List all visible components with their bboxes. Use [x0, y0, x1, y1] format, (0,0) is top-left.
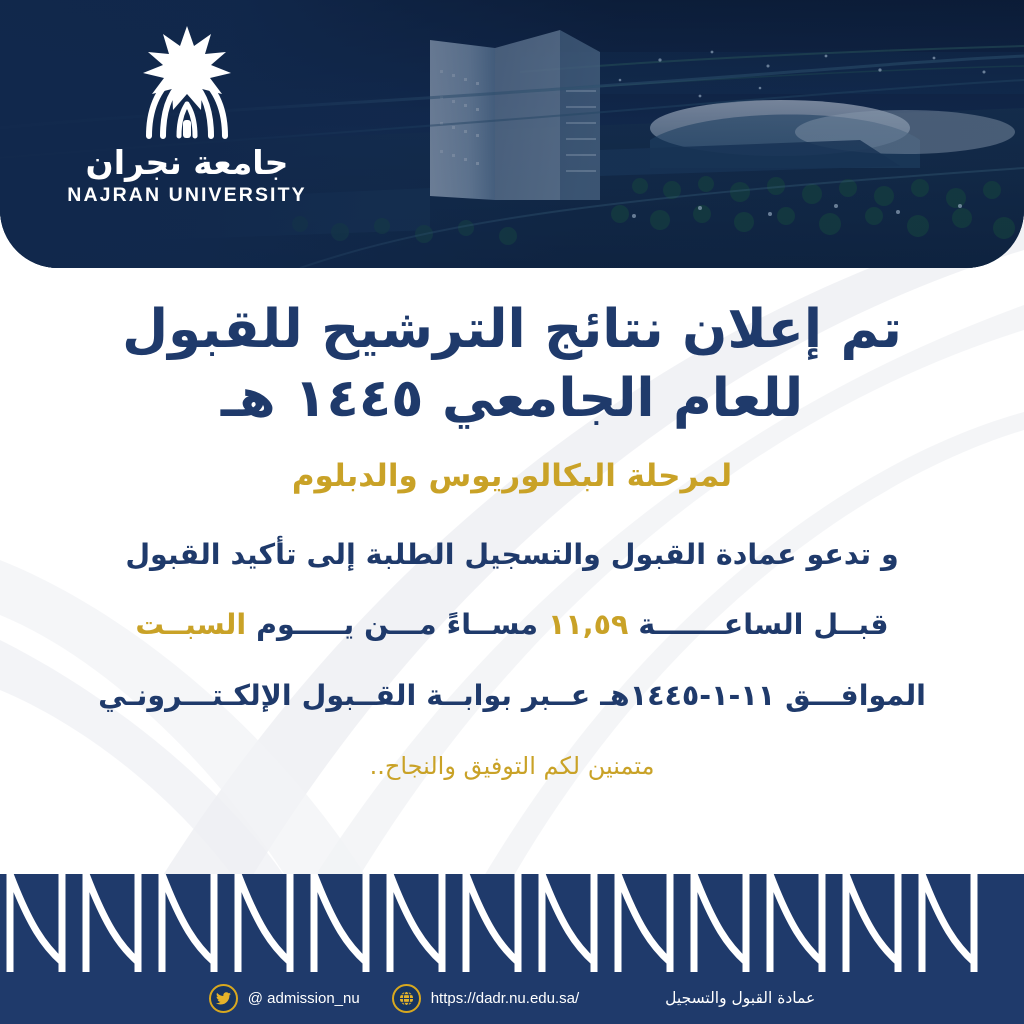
- poster-header: جامعة نجران NAJRAN UNIVERSITY: [0, 0, 1024, 268]
- deadline-hijri-date: ١١-١-١٤٤٥هـ: [600, 679, 775, 712]
- deadline-time: ١١,٥٩: [548, 608, 628, 641]
- university-logo: جامعة نجران NAJRAN UNIVERSITY: [62, 24, 312, 206]
- logo-english-name: NAJRAN UNIVERSITY: [67, 186, 306, 206]
- body-line-2: قبــل الساعـــــــة ١١,٥٩ مســاءً مـــن …: [62, 611, 962, 640]
- body-line-1: و تدعو عمادة القبول والتسجيل الطلبة إلى …: [62, 541, 962, 570]
- closing-wishes: متمنين لكم التوفيق والنجاح..: [62, 752, 962, 780]
- body-line-3-lead: الموافـــق: [785, 679, 926, 712]
- department-label: عمادة القبول والتسجيل: [665, 989, 815, 1007]
- globe-icon[interactable]: [392, 984, 421, 1013]
- najran-university-star-book-logo-icon: [121, 24, 253, 142]
- announcement-poster: جامعة نجران NAJRAN UNIVERSITY تم إعلان ن…: [0, 0, 1024, 1024]
- logo-arabic-name: جامعة نجران: [86, 146, 289, 179]
- twitter-handle-item[interactable]: @ admission_nu: [209, 984, 360, 1013]
- najran-n-motif-zigzag-icon: [0, 874, 1024, 972]
- headline-line-2: للعام الجامعي ١٤٤٥ هـ: [72, 365, 952, 434]
- twitter-handle-label: @ admission_nu: [248, 990, 360, 1007]
- body-line-3: الموافـــق ١١-١-١٤٤٥هـ عــبر بوابــة الق…: [62, 682, 962, 711]
- body-line-2-lead: قبــل الساعـــــــة: [638, 608, 888, 641]
- body-line-3-tail: عــبر بوابــة القــبول الإلكـتـــرونـي: [98, 679, 590, 712]
- announcement-body: و تدعو عمادة القبول والتسجيل الطلبة إلى …: [62, 541, 962, 781]
- headline-line-1: تم إعلان نتائج الترشيح للقبول: [72, 296, 952, 365]
- twitter-bird-icon[interactable]: [209, 984, 238, 1013]
- poster-footer: @ admission_nu https://dadr.nu.edu.sa/: [0, 972, 1024, 1024]
- announcement-subheadline: لمرحلة البكالوريوس والدبلوم: [0, 458, 1024, 495]
- body-line-2-mid: مســاءً مـــن يـــــوم: [256, 608, 538, 641]
- announcement-content: تم إعلان نتائج الترشيح للقبول للعام الجا…: [0, 268, 1024, 868]
- website-url-label: https://dadr.nu.edu.sa/: [431, 990, 579, 1007]
- announcement-headline: تم إعلان نتائج الترشيح للقبول للعام الجا…: [72, 296, 952, 434]
- website-item[interactable]: https://dadr.nu.edu.sa/: [392, 984, 579, 1013]
- deadline-day: السبــت: [135, 608, 246, 641]
